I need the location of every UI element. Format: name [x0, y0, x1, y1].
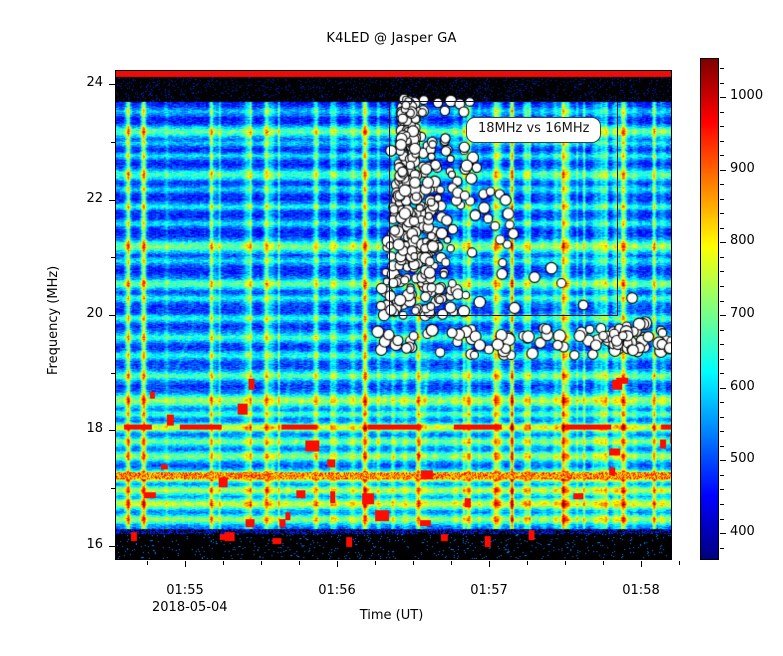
- y-axis-minor-tick: [111, 142, 115, 143]
- x-axis-label: Time (UT): [0, 608, 783, 623]
- colorbar: [700, 58, 719, 560]
- colorbar-minor-tick: [720, 344, 724, 345]
- colorbar-minor-tick: [720, 213, 724, 214]
- colorbar-minor-tick: [720, 141, 724, 142]
- annotation-callout: 18MHz vs 16MHz: [466, 117, 601, 143]
- y-axis-tick-label: 16: [0, 537, 103, 552]
- colorbar-tick: [720, 170, 726, 171]
- page-title: K4LED @ Jasper GA: [0, 31, 783, 46]
- colorbar-minor-tick: [720, 228, 724, 229]
- colorbar-tick-label: 800: [730, 233, 755, 248]
- colorbar-tick: [720, 388, 726, 389]
- x-axis-minor-tick: [413, 561, 414, 565]
- colorbar-minor-tick: [720, 402, 724, 403]
- colorbar-tick: [720, 97, 726, 98]
- annotation-label: 18MHz vs 16MHz: [478, 121, 589, 136]
- x-axis-tick-label: 01:58: [596, 583, 686, 598]
- y-axis-minor-tick: [111, 257, 115, 258]
- y-axis-tick: [109, 430, 115, 431]
- colorbar-minor-tick: [720, 359, 724, 360]
- y-axis-minor-tick: [111, 488, 115, 489]
- x-axis-tick-label: 01:57: [444, 583, 534, 598]
- colorbar-tick-label: 900: [730, 161, 755, 176]
- x-axis-minor-tick: [527, 561, 528, 565]
- colorbar-minor-tick: [720, 112, 724, 113]
- y-axis-minor-tick: [111, 373, 115, 374]
- colorbar-minor-tick: [720, 446, 724, 447]
- x-axis-minor-tick: [147, 561, 148, 565]
- y-axis-tick: [109, 200, 115, 201]
- colorbar-minor-tick: [720, 519, 724, 520]
- colorbar-minor-tick: [720, 373, 724, 374]
- y-axis-tick-label: 18: [0, 421, 103, 436]
- colorbar-tick-label: 400: [730, 524, 755, 539]
- x-axis-tick: [489, 561, 490, 567]
- x-axis-minor-tick: [565, 561, 566, 565]
- y-axis-tick-label: 22: [0, 191, 103, 206]
- colorbar-minor-tick: [720, 489, 724, 490]
- x-axis-minor-tick: [299, 561, 300, 565]
- colorbar-minor-tick: [720, 417, 724, 418]
- x-axis-minor-tick: [375, 561, 376, 565]
- x-axis-tick: [337, 561, 338, 567]
- colorbar-minor-tick: [720, 301, 724, 302]
- colorbar-minor-tick: [720, 68, 724, 69]
- colorbar-tick: [720, 242, 726, 243]
- y-axis-tick-label: 24: [0, 75, 103, 90]
- colorbar-minor-tick: [720, 199, 724, 200]
- colorbar-tick-label: 500: [730, 451, 755, 466]
- spectrogram-axes: [115, 70, 672, 560]
- colorbar-minor-tick: [720, 126, 724, 127]
- x-axis-minor-tick: [603, 561, 604, 565]
- x-axis-tick: [185, 561, 186, 567]
- y-axis-label: Frequency (MHz): [46, 266, 61, 375]
- x-axis-tick: [641, 561, 642, 567]
- colorbar-minor-tick: [720, 475, 724, 476]
- y-axis-tick: [109, 84, 115, 85]
- colorbar-minor-tick: [720, 184, 724, 185]
- colorbar-tick-label: 700: [730, 306, 755, 321]
- x-axis-minor-tick: [451, 561, 452, 565]
- x-axis-minor-tick: [223, 561, 224, 565]
- colorbar-minor-tick: [720, 83, 724, 84]
- spectrogram-image: [116, 71, 671, 559]
- x-axis-tick-label: 01:55: [140, 583, 230, 598]
- colorbar-minor-tick: [720, 504, 724, 505]
- x-axis-minor-tick: [261, 561, 262, 565]
- colorbar-tick: [720, 315, 726, 316]
- colorbar-tick-label: 600: [730, 379, 755, 394]
- x-axis-minor-tick: [679, 561, 680, 565]
- y-axis-tick: [109, 315, 115, 316]
- colorbar-minor-tick: [720, 257, 724, 258]
- colorbar-minor-tick: [720, 271, 724, 272]
- colorbar-gradient: [701, 59, 718, 559]
- x-axis-tick-label: 01:56: [292, 583, 382, 598]
- colorbar-minor-tick: [720, 548, 724, 549]
- colorbar-minor-tick: [720, 330, 724, 331]
- colorbar-tick: [720, 460, 726, 461]
- colorbar-minor-tick: [720, 155, 724, 156]
- colorbar-tick-label: 1000: [730, 88, 763, 103]
- colorbar-tick: [720, 533, 726, 534]
- colorbar-minor-tick: [720, 431, 724, 432]
- figure-canvas: K4LED @ Jasper GA 18MHz vs 16MHz 1618202…: [0, 0, 783, 656]
- colorbar-minor-tick: [720, 286, 724, 287]
- y-axis-tick: [109, 546, 115, 547]
